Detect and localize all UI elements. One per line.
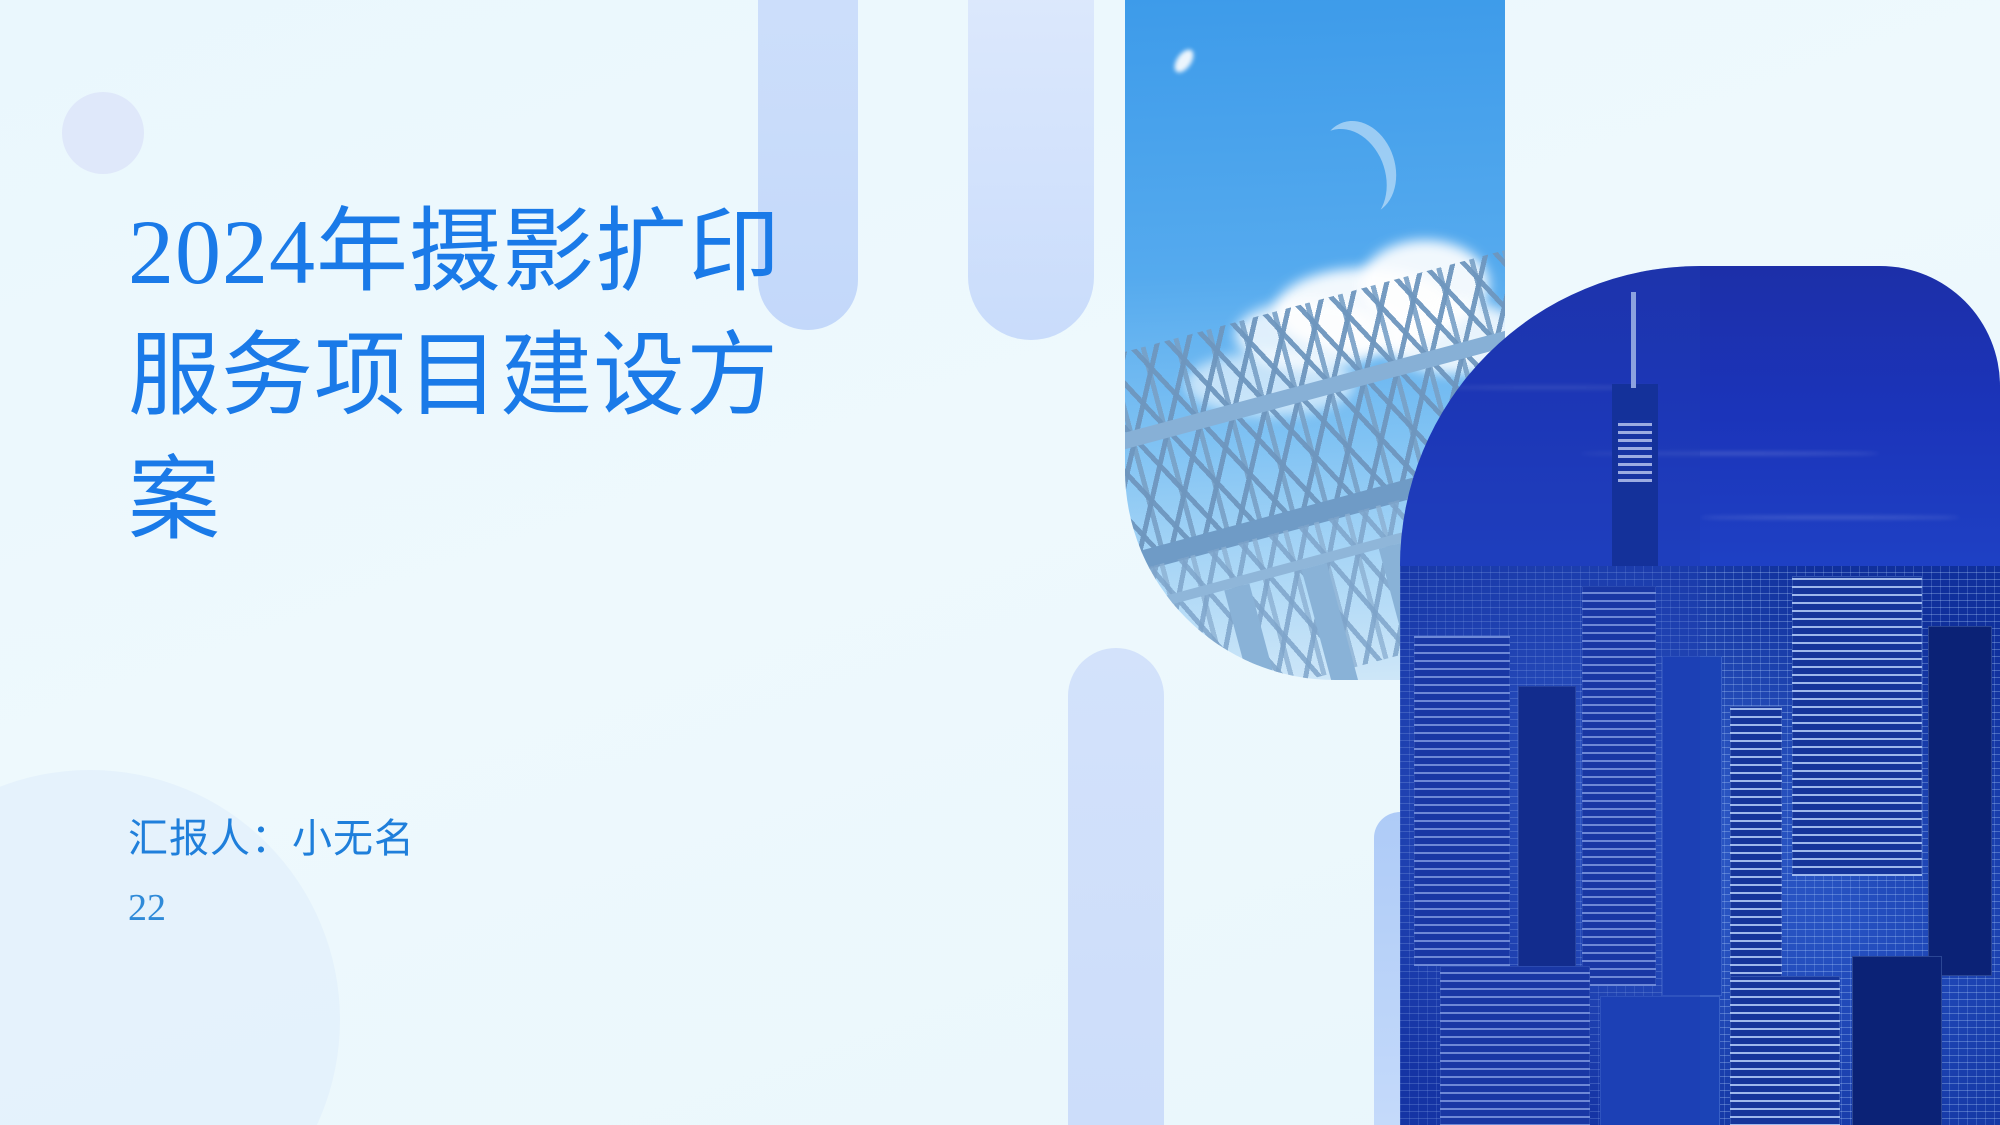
presenter-label: 汇报人：小无名 [128, 806, 415, 864]
rounded-vertical-bar-2 [968, 0, 1094, 340]
building [1928, 626, 1992, 976]
cloud-wisp-icon [1700, 516, 1960, 519]
light-blue-circle-icon [62, 92, 144, 174]
rounded-vertical-bar-3 [1068, 648, 1164, 1125]
building [1730, 976, 1840, 1125]
building [1730, 706, 1782, 1006]
presentation-slide: 2024年摄影扩印服务项目建设方案 汇报人：小无名 22 [0, 0, 2000, 1125]
page-title: 2024年摄影扩印服务项目建设方案 [128, 190, 788, 563]
building [1792, 576, 1922, 876]
date-number-label: 22 [128, 886, 166, 930]
building [1852, 956, 1942, 1125]
